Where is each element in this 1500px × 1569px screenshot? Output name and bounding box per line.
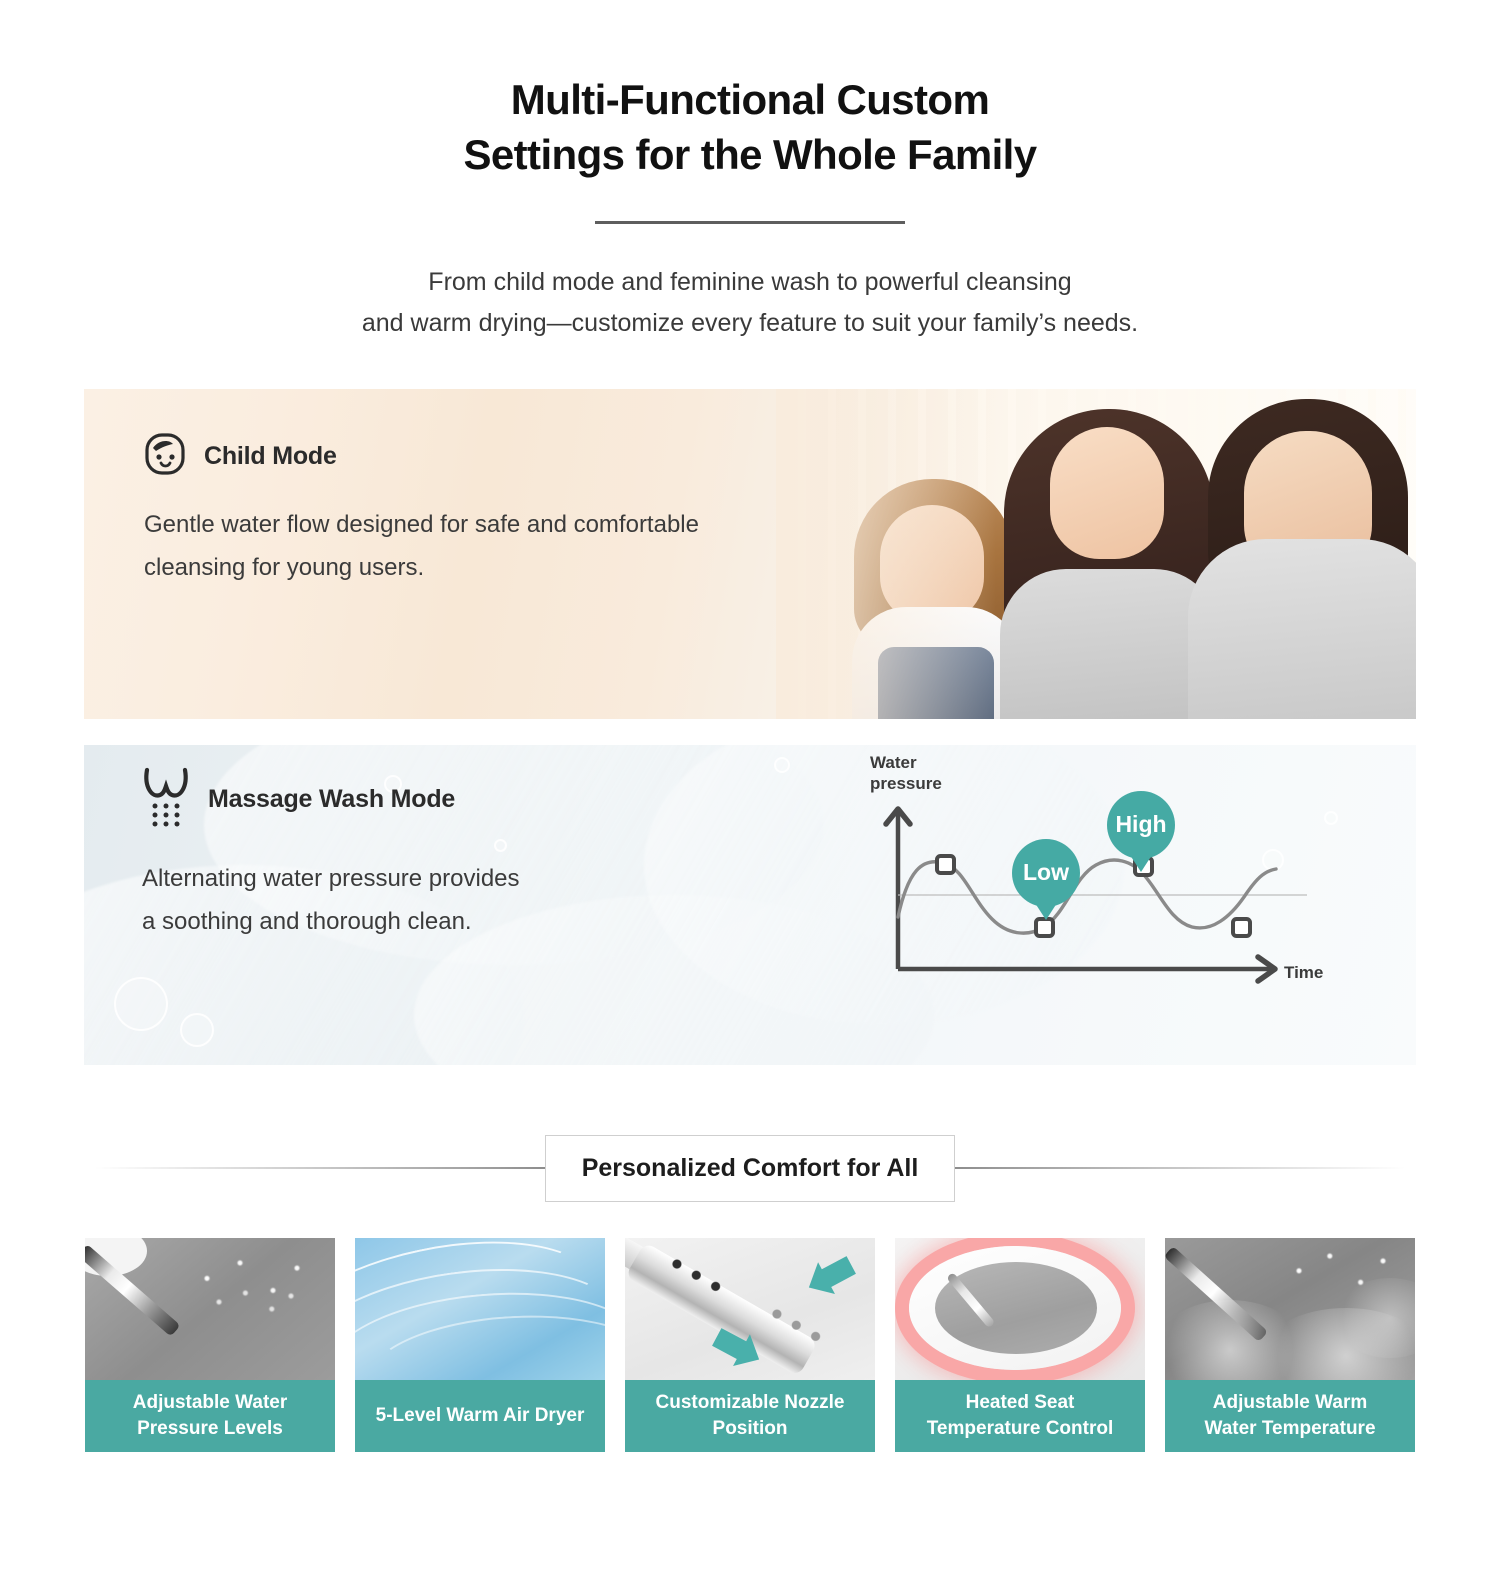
feature-tile-warm-water-temperature[interactable]: Adjustable Warm Water Temperature xyxy=(1165,1238,1415,1452)
bubble-2 xyxy=(180,1013,214,1047)
chart-annotation-high: High xyxy=(1107,791,1175,859)
child-mode-description: Gentle water flow designed for safe and … xyxy=(84,482,1416,589)
toilet-bowl-opening xyxy=(935,1262,1097,1354)
heated-toilet-seat-image xyxy=(895,1238,1145,1380)
feature-tile-caption: Heated Seat Temperature Control xyxy=(895,1380,1145,1452)
chart-x-axis-label: Time xyxy=(1284,963,1323,984)
feature-tile-nozzle-position[interactable]: Customizable Nozzle Position xyxy=(625,1238,875,1452)
page-subtitle-line-2: and warm drying—customize every feature … xyxy=(0,303,1500,345)
page-subtitle-line-1: From child mode and feminine wash to pow… xyxy=(0,262,1500,304)
feature-caption-line-1: 5-Level Warm Air Dryer xyxy=(376,1403,585,1429)
feature-caption-line-1: Customizable Nozzle xyxy=(656,1390,845,1416)
feature-caption-line-1: Heated Seat xyxy=(966,1390,1075,1416)
feature-caption-line-2: Position xyxy=(713,1416,788,1442)
chart-y-axis-label-line-1: Water xyxy=(870,753,942,774)
feature-tile-list: Adjustable Water Pressure Levels 5-Level… xyxy=(0,1238,1500,1452)
child-mode-content: Child Mode Gentle water flow designed fo… xyxy=(84,389,1416,589)
chart-y-axis-label-line-2: pressure xyxy=(870,774,942,795)
feature-caption-line-2: Temperature Control xyxy=(927,1416,1114,1442)
page-title-line-1: Multi-Functional Custom xyxy=(0,72,1500,127)
bubble-1 xyxy=(114,977,168,1031)
massage-mode-title: Massage Wash Mode xyxy=(208,785,455,814)
divider-line-right xyxy=(955,1167,1405,1169)
chart-marker-peak-1 xyxy=(937,856,954,873)
feature-caption-line-2: Pressure Levels xyxy=(137,1416,283,1442)
child-mode-description-line-1: Gentle water flow designed for safe and … xyxy=(144,504,1416,547)
banner-child-mode: Child Mode Gentle water flow designed fo… xyxy=(84,389,1416,719)
feature-caption-line-2: Water Temperature xyxy=(1204,1416,1375,1442)
arrow-down-icon xyxy=(709,1324,767,1373)
baby-face-icon xyxy=(142,431,188,482)
nozzle-water-spray-image xyxy=(85,1238,335,1380)
feature-tile-caption: Adjustable Water Pressure Levels xyxy=(85,1380,335,1452)
child-mode-header: Child Mode xyxy=(84,389,1416,482)
page-title-line-2: Settings for the Whole Family xyxy=(0,127,1500,182)
title-divider-rule xyxy=(595,221,905,224)
feature-tile-caption: 5-Level Warm Air Dryer xyxy=(355,1380,605,1452)
child-mode-title: Child Mode xyxy=(204,442,337,471)
chart-marker-trough-low xyxy=(1036,919,1053,936)
section-divider: Personalized Comfort for All xyxy=(0,1135,1500,1202)
nozzle-position-arrows-image xyxy=(625,1238,875,1380)
divider-line-left xyxy=(95,1167,545,1169)
feature-tile-warm-air-dryer[interactable]: 5-Level Warm Air Dryer xyxy=(355,1238,605,1452)
page-subtitle: From child mode and feminine wash to pow… xyxy=(0,262,1500,345)
feature-tile-caption: Customizable Nozzle Position xyxy=(625,1380,875,1452)
banner-massage-wash-mode: Massage Wash Mode Alternating water pres… xyxy=(84,745,1416,1065)
warm-water-steam-image xyxy=(1165,1238,1415,1380)
massage-spray-icon xyxy=(140,765,192,834)
feature-caption-line-1: Adjustable Water xyxy=(133,1390,288,1416)
feature-tile-adjustable-water-pressure[interactable]: Adjustable Water Pressure Levels xyxy=(85,1238,335,1452)
water-spray-shape-2 xyxy=(195,1282,315,1332)
warm-airflow-image xyxy=(355,1238,605,1380)
chart-annotation-low: Low xyxy=(1012,839,1080,907)
child-mode-description-line-2: cleansing for young users. xyxy=(144,547,1416,590)
water-pressure-chart: Water pressure Time Low High xyxy=(852,751,1322,1001)
page-title: Multi-Functional Custom Settings for the… xyxy=(0,72,1500,183)
arrow-up-icon xyxy=(801,1252,859,1301)
chart-marker-trough-2 xyxy=(1233,919,1250,936)
feature-tile-heated-seat[interactable]: Heated Seat Temperature Control xyxy=(895,1238,1145,1452)
page-header: Multi-Functional Custom Settings for the… xyxy=(0,0,1500,345)
chart-y-axis-label: Water pressure xyxy=(870,753,942,794)
feature-caption-line-1: Adjustable Warm xyxy=(1213,1390,1368,1416)
divider-label: Personalized Comfort for All xyxy=(545,1135,956,1202)
feature-tile-caption: Adjustable Warm Water Temperature xyxy=(1165,1380,1415,1452)
